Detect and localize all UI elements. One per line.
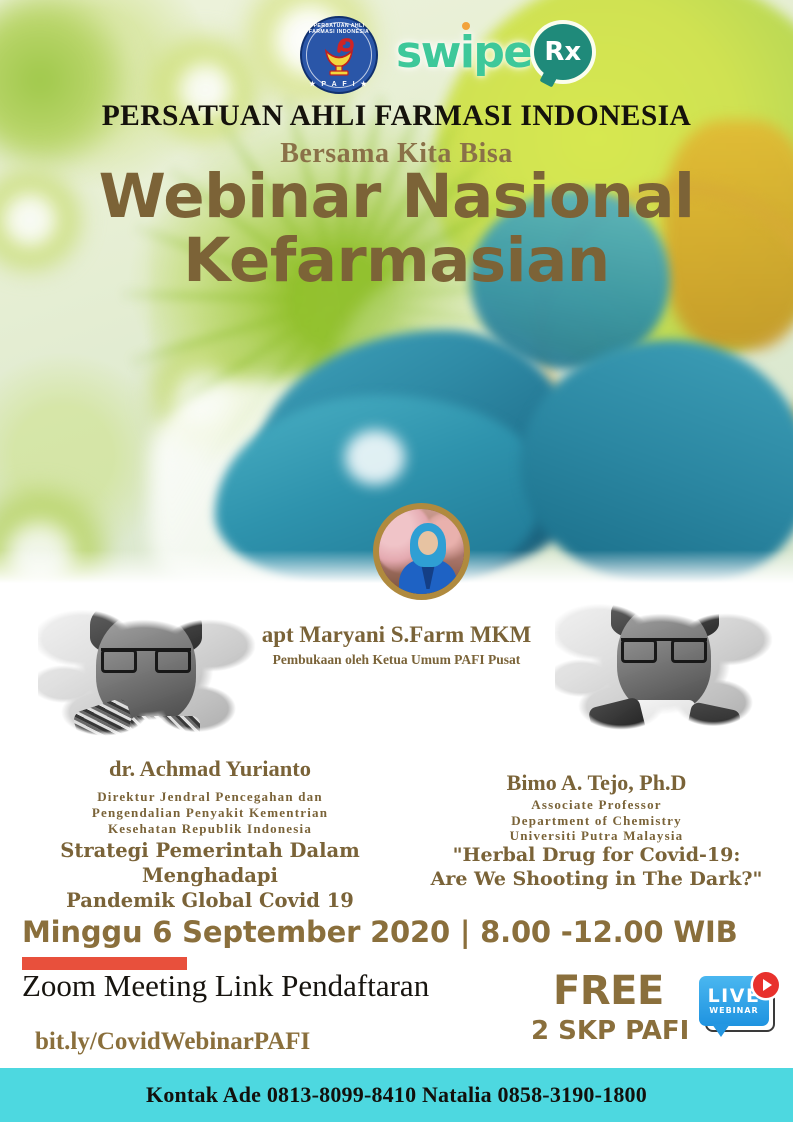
left-speaker-photo — [38, 586, 258, 761]
portrait-batik-shirt — [130, 716, 200, 760]
rx-speech-bubble-icon: Rx — [534, 24, 592, 80]
swipe-wordmark: swipe — [396, 27, 532, 78]
pafi-logo: PERSATUAN AHLI FARMASI INDONESIA ★ P A F… — [300, 16, 378, 94]
badge-live-text: LIVE — [708, 987, 761, 1006]
glasses-icon — [621, 638, 707, 655]
swipe-dot-icon — [462, 22, 470, 30]
left-speaker-topic: Strategi Pemerintah Dalam Menghadapi Pan… — [0, 838, 420, 913]
right-speaker-affiliation: Associate Professor Department of Chemis… — [400, 797, 793, 844]
left-speaker-name: dr. Achmad Yurianto — [0, 756, 420, 782]
right-topic-line-2: Are We Shooting in The Dark?" — [400, 867, 793, 891]
right-speaker-name: Bimo A. Tejo, Ph.D — [400, 770, 793, 796]
left-topic-line-1: Strategi Pemerintah Dalam Menghadapi — [0, 838, 420, 888]
badge-webinar-text: WEBINAR — [709, 1007, 758, 1015]
page-title: Webinar Nasional Kefarmasian — [0, 165, 793, 293]
swiperx-logo: swipe Rx — [396, 24, 592, 80]
glove-highlight — [345, 430, 405, 485]
platform-registration-label: Zoom Meeting Link Pendaftaran — [22, 968, 429, 1004]
glasses-icon — [101, 648, 191, 665]
organization-name: PERSATUAN AHLI FARMASI INDONESIA — [0, 100, 793, 133]
play-button-icon — [753, 972, 779, 998]
pafi-ring-top-text: PERSATUAN AHLI FARMASI INDONESIA — [302, 23, 376, 35]
logo-row: PERSATUAN AHLI FARMASI INDONESIA ★ P A F… — [0, 8, 793, 88]
rx-label: Rx — [544, 37, 581, 67]
title-line-1: Webinar Nasional — [0, 165, 793, 229]
pafi-ring-bottom-text: ★ P A F I ★ — [302, 80, 376, 88]
avatar-face — [418, 531, 438, 555]
live-webinar-badge: LIVE WEBINAR — [699, 976, 777, 1038]
event-date-time: Minggu 6 September 2020 | 8.00 -12.00 WI… — [22, 915, 738, 949]
right-speaker-photo — [555, 580, 775, 755]
portrait-suit — [683, 701, 742, 755]
contact-footer: Kontak Ade 0813-8099-8410 Natalia 0858-3… — [0, 1068, 793, 1122]
credits-label: 2 SKP PAFI — [531, 1016, 689, 1046]
right-topic-line-1: "Herbal Drug for Covid-19: — [400, 843, 793, 867]
contact-text: Kontak Ade 0813-8099-8410 Natalia 0858-3… — [146, 1082, 647, 1108]
registration-link[interactable]: bit.ly/CovidWebinarPAFI — [35, 1028, 310, 1056]
left-speaker-affiliation: Direktur Jendral Pencegahan dan Pengenda… — [0, 789, 420, 837]
title-line-2: Kefarmasian — [0, 229, 793, 293]
avatar-center-speaker — [373, 503, 470, 600]
webinar-poster: PERSATUAN AHLI FARMASI INDONESIA ★ P A F… — [0, 0, 793, 1122]
left-topic-line-2: Pandemik Global Covid 19 — [0, 888, 420, 913]
right-speaker-topic: "Herbal Drug for Covid-19: Are We Shooti… — [400, 843, 793, 891]
price-label: FREE — [553, 968, 664, 1014]
